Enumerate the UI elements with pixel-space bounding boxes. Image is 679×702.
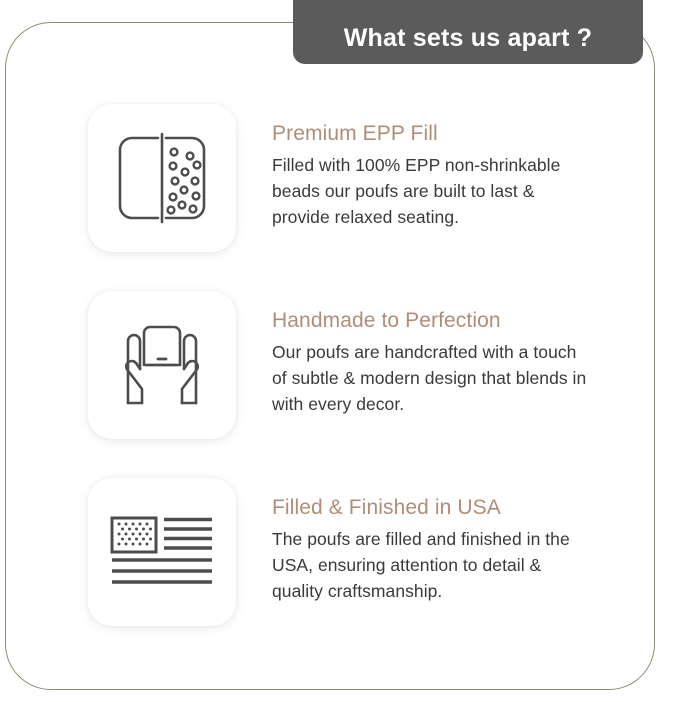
page-title: What sets us apart ?: [344, 26, 593, 51]
feature-description: Our poufs are handcrafted with a touch o…: [272, 340, 596, 417]
epp-bead-cushion-icon: [114, 132, 210, 224]
feature-text-block: Filled & Finished in USA The poufs are f…: [236, 478, 596, 604]
feature-description: Filled with 100% EPP non-shrinkable bead…: [272, 153, 596, 230]
feature-icon-tile: [88, 478, 236, 626]
feature-item: Premium EPP Fill Filled with 100% EPP no…: [0, 104, 679, 252]
feature-item: Filled & Finished in USA The poufs are f…: [0, 478, 679, 626]
feature-item: Handmade to Perfection Our poufs are han…: [0, 291, 679, 439]
usa-flag-icon: [110, 516, 214, 588]
feature-icon-tile: [88, 104, 236, 252]
feature-description: The poufs are filled and finished in the…: [272, 527, 596, 604]
features-list: Premium EPP Fill Filled with 100% EPP no…: [0, 104, 679, 665]
header-banner: What sets us apart ?: [293, 0, 643, 64]
feature-text-block: Premium EPP Fill Filled with 100% EPP no…: [236, 104, 596, 230]
feature-icon-tile: [88, 291, 236, 439]
feature-title: Premium EPP Fill: [272, 122, 596, 146]
feature-title: Filled & Finished in USA: [272, 496, 596, 520]
feature-text-block: Handmade to Perfection Our poufs are han…: [236, 291, 596, 417]
handmade-hands-holding-pouf-icon: [114, 319, 210, 411]
feature-title: Handmade to Perfection: [272, 309, 596, 333]
